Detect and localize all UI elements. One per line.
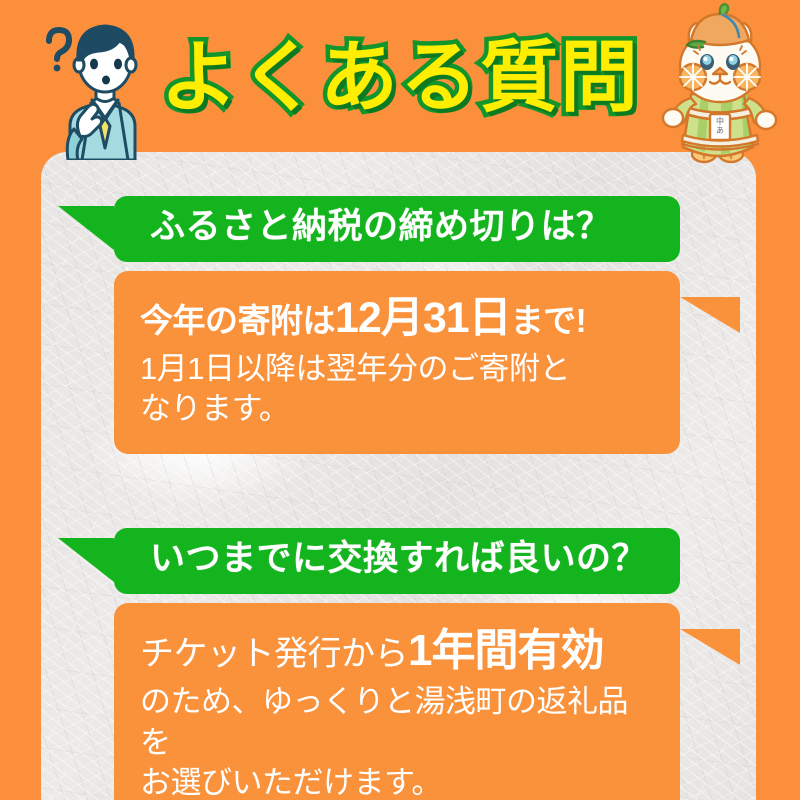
answer-bubble-tail-icon xyxy=(680,629,740,665)
faq-question-bubble-1[interactable]: ふるさと納税の締め切りは？ xyxy=(114,196,680,262)
faq-question-text-2: いつまでに交換すれば良いの？ xyxy=(150,540,647,579)
answer-lead-prefix-2: チケット発行から xyxy=(140,635,408,673)
answer-lead-prefix-1: 今年の寄附は xyxy=(140,302,335,339)
faq-answer-lead-2: チケット発行から1年間有効 xyxy=(140,623,658,678)
faq-answer-body-2: のため、ゆっくりと湯浅町の返礼品を お選びいただけます。 xyxy=(140,682,658,800)
answer-bubble-tail-icon xyxy=(680,297,740,333)
faq-item-1: ふるさと納税の締め切りは？ 今年の寄附は12月31日まで! 1月1日以降は翌年分… xyxy=(114,196,680,454)
header: よくある質問 xyxy=(0,0,800,160)
answer-lead-suffix-1: まで! xyxy=(511,302,587,339)
thinking-businessman-illustration xyxy=(30,8,180,160)
question-mark-icon xyxy=(49,30,69,59)
svg-text:あ: あ xyxy=(716,126,724,135)
faq-answer-bubble-2[interactable]: チケット発行から1年間有効 のため、ゆっくりと湯浅町の返礼品を お選びいただけま… xyxy=(114,603,680,800)
faq-question-bubble-2[interactable]: いつまでに交換すれば良いの？ xyxy=(114,528,680,594)
yuasa-town-cat-mascot-illustration: 中 あ xyxy=(645,2,795,164)
faq-answer-bubble-1[interactable]: 今年の寄附は12月31日まで! 1月1日以降は翌年分のご寄附と なります。 xyxy=(114,271,680,454)
answer-lead-emphasis-1: 12月31日 xyxy=(335,294,511,342)
page-title: よくある質問 xyxy=(160,39,640,117)
question-bubble-tail-icon xyxy=(58,206,114,250)
faq-item-2: いつまでに交換すれば良いの？ チケット発行から1年間有効 のため、ゆっくりと湯浅… xyxy=(114,528,680,800)
faq-answer-body-1: 1月1日以降は翌年分のご寄附と なります。 xyxy=(140,349,658,430)
faq-question-text-1: ふるさと納税の締め切りは？ xyxy=(150,208,612,247)
answer-lead-emphasis-2: 1年間有効 xyxy=(408,626,603,675)
faq-banner: よくある質問 xyxy=(0,0,800,800)
faq-answer-lead-1: 今年の寄附は12月31日まで! xyxy=(140,291,658,345)
svg-text:中: 中 xyxy=(716,116,724,126)
question-bubble-tail-icon xyxy=(58,538,114,582)
